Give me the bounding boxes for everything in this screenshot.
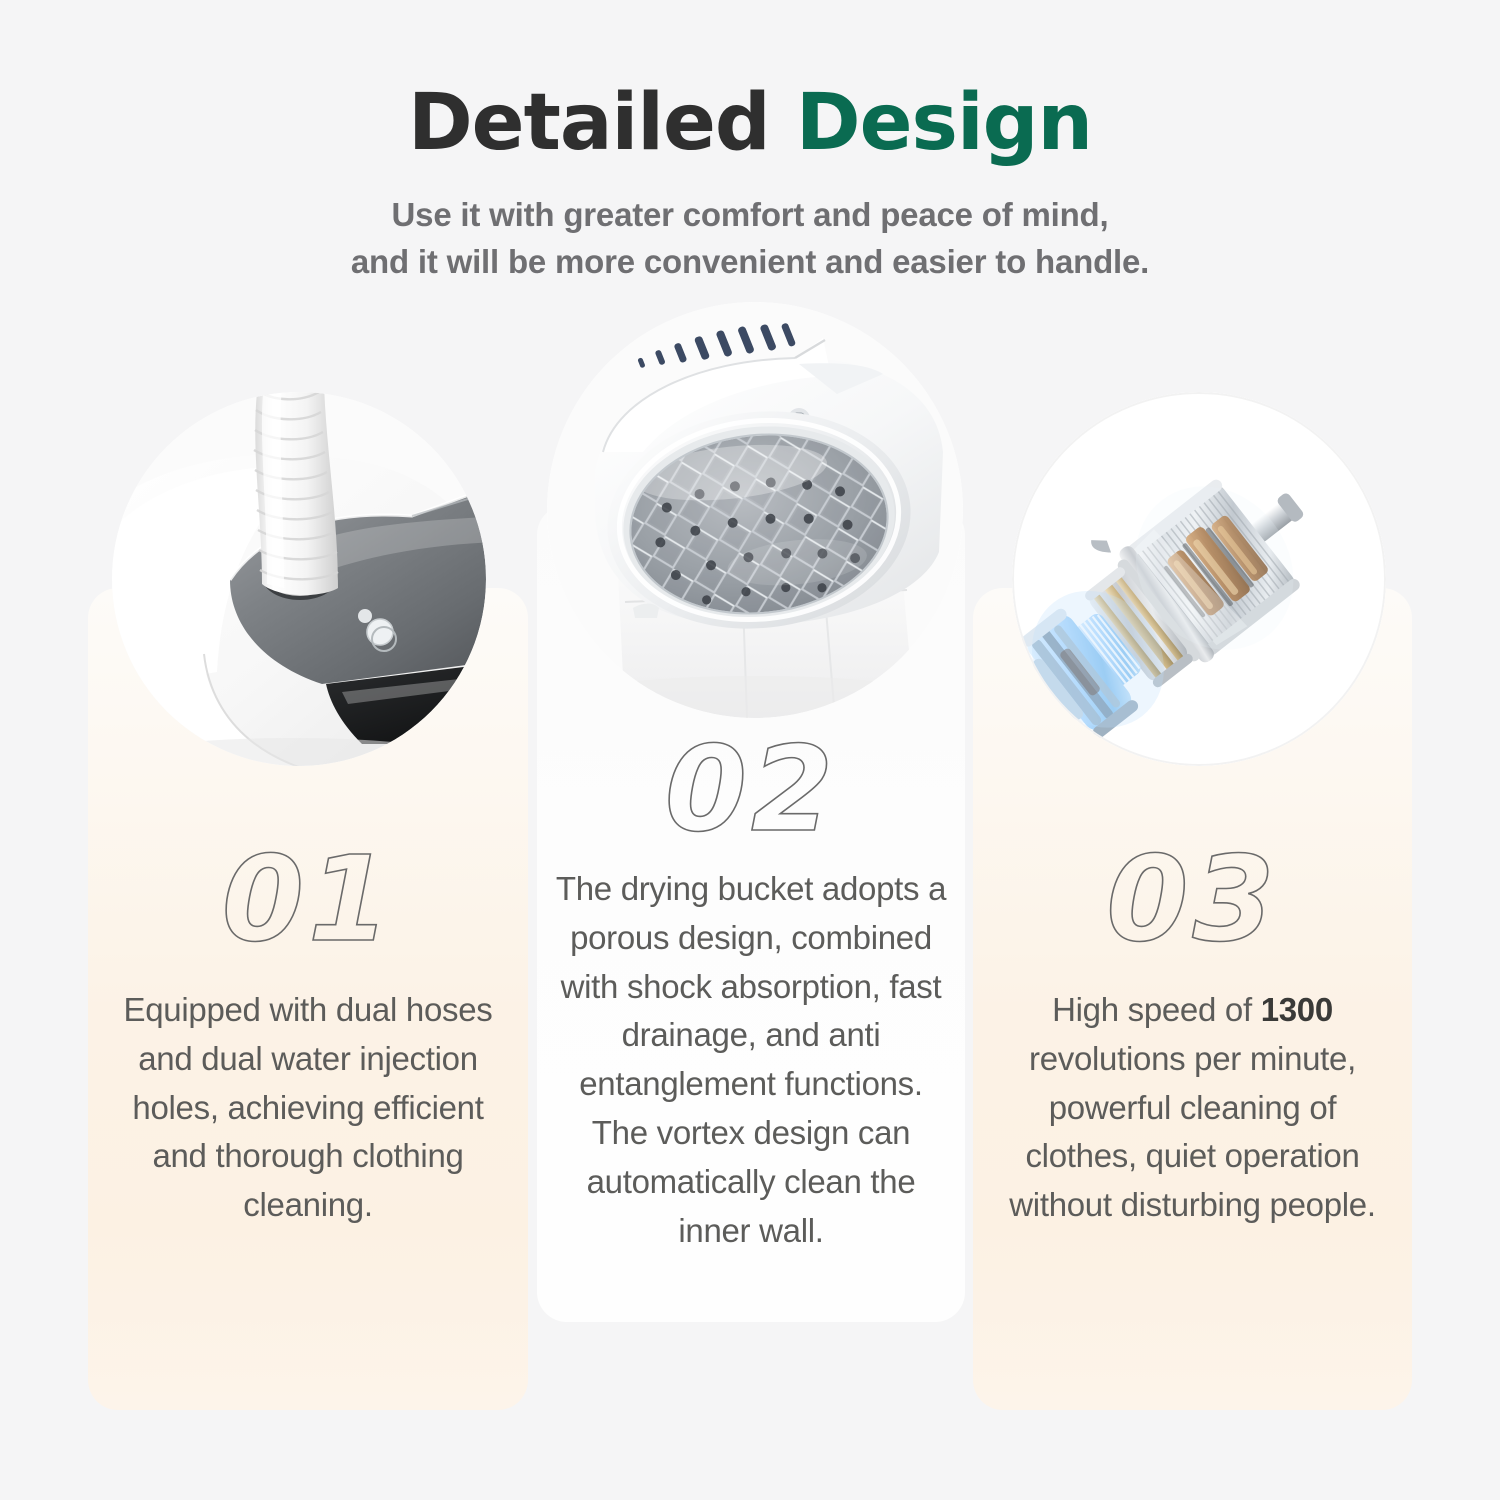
feature-card-01-text: Equipped with dual hoses and dual water …: [124, 991, 493, 1223]
feature-card-02-number: 02: [537, 730, 965, 848]
feature-card-03-rpm-value: 1300: [1261, 991, 1333, 1028]
feature-card-02-description: The drying bucket adopts a porous design…: [537, 865, 965, 1256]
washer-water-inlet-hose-photo: [112, 392, 486, 766]
feature-card-03-description: High speed of 1300 revolutions per minut…: [973, 986, 1412, 1230]
feature-card-03-text-after: revolutions per minute, powerful cleanin…: [1009, 1040, 1375, 1223]
feature-card-03-text-before: High speed of: [1052, 991, 1261, 1028]
feature-card-01-description: Equipped with dual hoses and dual water …: [88, 986, 528, 1230]
feature-card-list: 01 Equipped with dual hoses and dual wat…: [0, 0, 1500, 1500]
drying-bucket-porous-drum-photo: [547, 302, 963, 718]
feature-card-03-number: 03: [973, 840, 1412, 958]
high-speed-motor-cutaway-photo: [1012, 392, 1386, 766]
feature-card-02-text: The drying bucket adopts a porous design…: [556, 870, 946, 1249]
feature-card-01-number: 01: [88, 840, 528, 958]
